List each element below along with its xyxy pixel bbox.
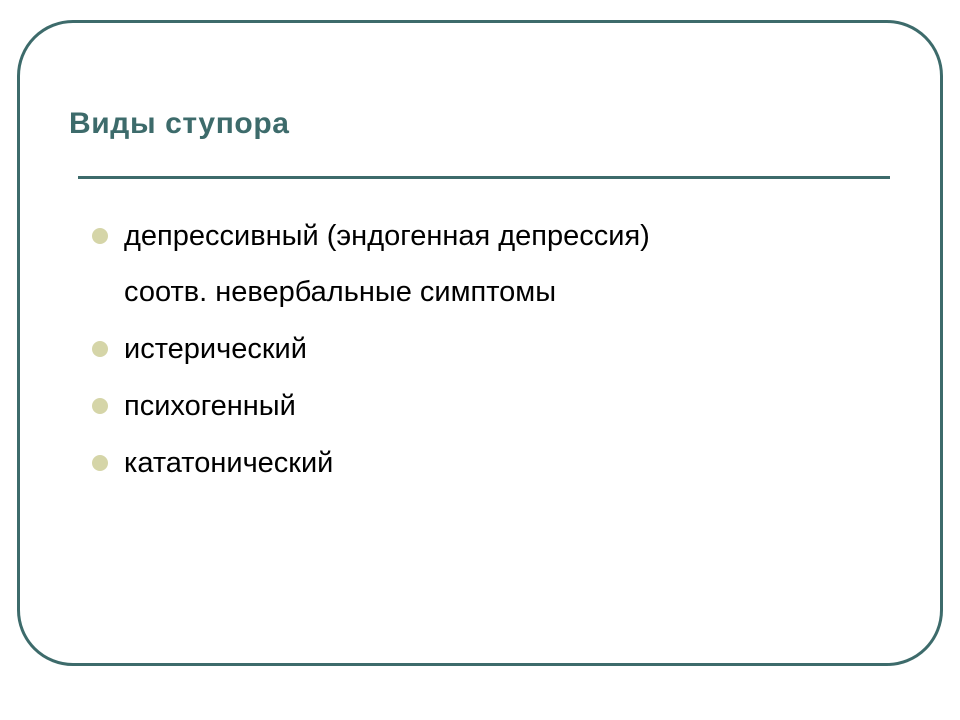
title-divider-rule <box>78 176 890 179</box>
slide: Виды ступора депрессивный (эндогенная де… <box>0 0 960 720</box>
bullet-dot-icon <box>92 455 108 471</box>
list-item: кататонический <box>90 435 890 491</box>
list-item-text: психогенный <box>124 378 890 434</box>
list-item-text: депрессивный (эндогенная депрессия) <box>124 208 890 264</box>
bullet-list: депрессивный (эндогенная депрессия) соот… <box>90 208 890 492</box>
list-item-text-continued: соотв. невербальные симптомы <box>124 264 890 320</box>
list-item-text: кататонический <box>124 435 890 491</box>
list-item-text: истерический <box>124 321 890 377</box>
slide-title: Виды ступора <box>69 105 889 143</box>
list-item: депрессивный (эндогенная депрессия) соот… <box>90 208 890 320</box>
bullet-dot-icon <box>92 398 108 414</box>
list-item: истерический <box>90 321 890 377</box>
list-item: психогенный <box>90 378 890 434</box>
bullet-dot-icon <box>92 341 108 357</box>
bullet-dot-icon <box>92 228 108 244</box>
